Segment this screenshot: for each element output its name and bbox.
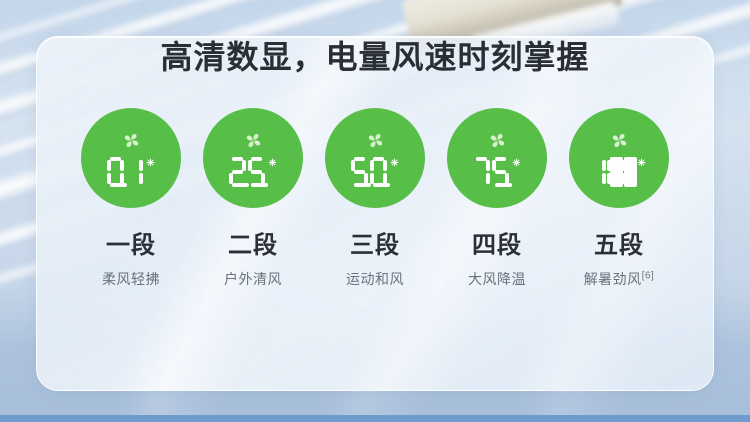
gear-description-text: 解暑劲风	[584, 271, 642, 287]
bottom-accent-strip	[0, 415, 750, 422]
segment-digit	[351, 157, 368, 187]
seven-segment-digits	[593, 157, 634, 187]
speed-dial	[203, 108, 303, 208]
gear-description-text: 户外清风	[224, 271, 282, 287]
digital-readout	[593, 157, 646, 187]
snowflake-icon	[637, 155, 646, 171]
speed-dial	[325, 108, 425, 208]
snowflake-icon	[390, 155, 399, 171]
fan-blade-icon	[121, 130, 142, 156]
fan-blade-icon	[487, 130, 508, 156]
seven-segment-digits	[107, 157, 143, 187]
gear-name-label: 二段	[228, 225, 278, 260]
promo-image: 高清数显，电量风速时刻掌握	[0, 0, 750, 422]
list-item: 三段 运动和风	[325, 108, 425, 289]
snowflake-icon	[268, 155, 277, 171]
gear-description-text: 大风降温	[468, 271, 526, 287]
gear-description-text: 柔风轻拂	[102, 271, 160, 287]
digital-readout	[107, 157, 155, 187]
gear-description-label: 大风降温	[468, 269, 526, 289]
segment-digit	[473, 157, 490, 187]
fan-blade-icon	[243, 130, 264, 156]
gear-description-label: 解暑劲风[6]	[584, 269, 655, 289]
gear-name-label: 一段	[106, 225, 156, 260]
segment-digit	[492, 157, 509, 187]
snowflake-icon	[512, 155, 521, 171]
digital-readout	[229, 157, 277, 187]
speed-dial	[569, 108, 669, 208]
gear-description-label: 柔风轻拂	[102, 269, 160, 289]
footnote-marker: [6]	[642, 270, 655, 281]
list-item: 四段 大风降温	[447, 108, 547, 289]
snowflake-icon	[146, 155, 155, 171]
fan-blade-icon	[609, 130, 630, 156]
segment-digit	[126, 157, 143, 187]
speed-dial	[81, 108, 181, 208]
gear-name-label: 三段	[350, 225, 400, 260]
segment-digit	[248, 157, 265, 187]
segment-digit	[229, 157, 246, 187]
digital-readout	[351, 157, 399, 187]
fan-blade-icon	[365, 130, 386, 156]
gear-name-label: 四段	[472, 225, 522, 260]
seven-segment-digits	[351, 157, 387, 187]
segment-digit	[607, 157, 620, 187]
segment-digit	[370, 157, 387, 187]
gear-description-text: 运动和风	[346, 271, 404, 287]
page-title: 高清数显，电量风速时刻掌握	[0, 32, 750, 78]
speed-dial	[447, 108, 547, 208]
seven-segment-digits	[473, 157, 509, 187]
list-item: 五段 解暑劲风[6]	[569, 108, 669, 289]
list-item: 二段 户外清风	[203, 108, 303, 289]
digital-readout	[473, 157, 521, 187]
list-item: 一段 柔风轻拂	[81, 108, 181, 289]
seven-segment-digits	[229, 157, 265, 187]
gear-name-label: 五段	[594, 225, 644, 260]
segment-digit	[621, 157, 634, 187]
segment-digit	[107, 157, 124, 187]
gear-description-label: 运动和风	[346, 269, 404, 289]
segment-digit	[593, 157, 606, 187]
gear-description-label: 户外清风	[224, 269, 282, 289]
fan-speed-list: 一段 柔风轻拂	[0, 108, 750, 289]
